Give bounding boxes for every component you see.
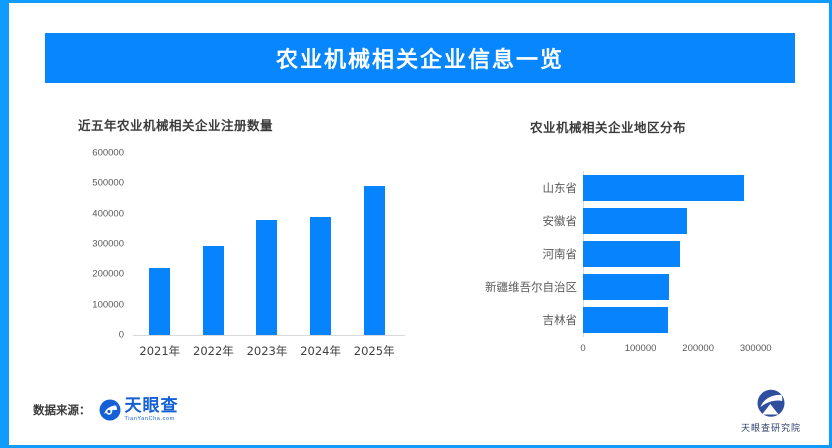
x-tick-label: 100000 [625, 343, 657, 354]
x-tick-label: 300000 [740, 343, 772, 354]
data-source: 数据来源： 天眼查 TianYanCha.com [33, 398, 179, 423]
vertical-bar [149, 268, 170, 335]
horizontal-bar [583, 175, 744, 201]
x-axis-line [133, 335, 405, 336]
category-axis-labels: 山东省安徽省河南省新疆维吾尔自治区吉林省 [443, 171, 577, 337]
institute-circle-icon [754, 389, 788, 419]
x-category-label: 2023年 [240, 343, 294, 359]
bar-row [583, 171, 773, 204]
y-axis-tick-labels: 6000005000004000003000002000001000000 [58, 153, 124, 335]
vertical-bars-plot-area [133, 153, 401, 335]
brand-domain: TianYanCha.com [125, 417, 179, 423]
y-tick-label: 200000 [92, 269, 124, 280]
y-tick-label: 500000 [92, 178, 124, 189]
category-label: 山东省 [543, 180, 578, 196]
left-accent-bar [3, 3, 9, 445]
brand-name: 天眼查 [125, 398, 179, 415]
bar-slot [294, 153, 348, 335]
y-tick-label: 100000 [92, 299, 124, 310]
vertical-bar [203, 246, 224, 335]
bar-slot [133, 153, 187, 335]
tianyancha-wordmark: 天眼查 TianYanCha.com [125, 398, 179, 423]
x-category-label: 2021年 [133, 343, 187, 359]
horizontal-bars-plot-area [583, 171, 773, 336]
vertical-bar [310, 217, 331, 335]
horizontal-bar [583, 208, 687, 234]
institute-name: 天眼查研究院 [741, 421, 801, 434]
x-tick-label: 0 [580, 343, 585, 354]
y-tick-label: 600000 [92, 148, 124, 159]
x-tick-label: 200000 [682, 343, 714, 354]
infographic-poster: 农业机械相关企业信息一览 近五年农业机械相关企业注册数量 60000050000… [0, 0, 832, 448]
bar-row [583, 270, 773, 303]
y-tick-label: 400000 [92, 208, 124, 219]
eye-circle-icon [99, 399, 121, 421]
vertical-bar [256, 220, 277, 335]
horizontal-bar [583, 241, 680, 267]
bar-slot [187, 153, 241, 335]
title-banner: 农业机械相关企业信息一览 [45, 33, 795, 83]
category-label: 安徽省 [543, 213, 578, 229]
x-category-label: 2024年 [294, 343, 348, 359]
vertical-bar [364, 186, 385, 335]
bar-slot [240, 153, 294, 335]
category-label: 吉林省 [543, 312, 578, 328]
y-tick-label: 300000 [92, 239, 124, 250]
horizontal-bar [583, 307, 668, 333]
horizontal-bar [583, 274, 669, 300]
x-category-label: 2025年 [347, 343, 401, 359]
category-label: 新疆维吾尔自治区 [485, 279, 577, 295]
source-label: 数据来源： [33, 402, 91, 418]
bar-row [583, 303, 773, 336]
institute-logo: 天眼查研究院 [741, 389, 801, 434]
bar-slot [347, 153, 401, 335]
y-tick-label: 0 [119, 330, 124, 341]
x-category-label: 2022年 [187, 343, 241, 359]
tianyancha-logo: 天眼查 TianYanCha.com [99, 398, 179, 423]
page-title: 农业机械相关企业信息一览 [276, 42, 564, 74]
category-label: 河南省 [543, 246, 578, 262]
registrations-bar-chart: 6000005000004000003000002000001000000 20… [58, 103, 438, 373]
regions-bar-chart: 山东省安徽省河南省新疆维吾尔自治区吉林省 0100000200000300000 [443, 103, 813, 373]
bar-row [583, 237, 773, 270]
bar-row [583, 204, 773, 237]
